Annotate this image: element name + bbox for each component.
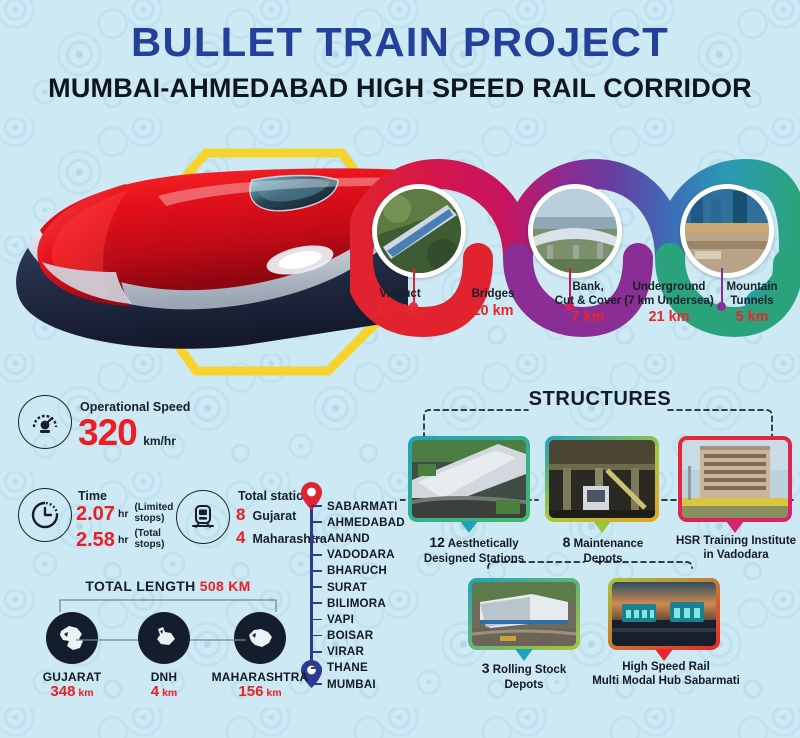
structure-card-maintenance-depots[interactable] [545,436,659,522]
station-name: SABARMATI [327,500,398,513]
structure-card-rolling-stock-depots[interactable] [468,578,580,650]
operational-speed-value: 320 [78,412,137,453]
dnh-km-unit: km [162,687,177,699]
state-row: GUJARAT 348km DNH 4km [18,612,318,699]
time-unit-limited: hr [118,508,129,520]
label-name: Underground [633,281,706,293]
station-list-item: BILIMORA [310,595,405,611]
page-header: BULLET TRAIN PROJECT MUMBAI-AHMEDABAD HI… [0,22,800,102]
station-list-item: SURAT [310,579,405,595]
structure-caption-maintenance-depots: 8 Maintenance Depots [532,534,674,566]
time-value-total: 2.58 [76,530,115,550]
station-tick [311,570,322,572]
station-list-item: MUMBAI [310,676,405,692]
card-pointer [460,521,478,533]
state-gujarat: GUJARAT 348km [26,612,118,699]
caption-line-2: Multi Modal Hub Sabarmati [592,675,740,687]
station-name: VIRAR [327,645,364,658]
total-length-section: TOTAL LENGTH 508 KM GUJARAT 348km [18,578,318,699]
maharashtra-km-value: 156 [238,683,263,700]
clock-icon [18,488,72,542]
total-length-value: 508 KM [200,578,251,594]
dnh-km-value: 4 [151,683,159,700]
station-list-item: SABARMATI [310,498,405,514]
structure-caption-designed-stations: 12 Aesthetically Designed Stations [394,534,554,566]
note-line-2: stops) [134,539,164,550]
caption-line-1: Maintenance [574,538,644,550]
note-line-1: (Limited [134,502,173,513]
rolling-stock-count: 3 [482,660,490,676]
stations-state-gujarat: Gujarat [252,509,296,523]
station-tick [311,521,322,523]
designed-stations-count: 12 [429,534,445,550]
caption-line-2: Depots [584,553,623,565]
station-name: MUMBAI [327,678,376,691]
note-line-2: stops) [134,513,164,524]
stations-count-maharashtra: 4 [236,528,245,548]
station-list-item: AHMEDABAD [310,514,405,530]
time-note-limited: (Limited stops) [134,503,173,524]
train-front-icon [176,490,230,544]
station-tick [311,554,322,556]
total-length-heading: TOTAL LENGTH 508 KM [18,578,318,594]
speedometer-icon [18,395,72,449]
station-list-item: ANAND [310,530,405,546]
caption-line-2: Designed Stations [424,553,524,565]
bullet-train-illustration [8,168,408,358]
station-list-item: BHARUCH [310,563,405,579]
label-name-2: Tunnels [730,295,773,307]
station-name: BILIMORA [327,597,386,610]
structure-caption-multi-modal-hub: High Speed Rail Multi Modal Hub Sabarmat… [586,660,746,689]
caption-line-2: Depots [505,679,544,691]
label-value: 10 km [448,303,538,320]
station-name: AHMEDABAD [327,516,405,529]
dnh-label: DNH [118,670,210,684]
state-dnh: DNH 4km [118,612,210,699]
alignment-label-mountain-tunnels: Mountain Tunnels 5 km [712,281,792,326]
station-name: SURAT [327,581,367,594]
card-pointer [726,521,744,533]
station-name: BHARUCH [327,564,387,577]
label-name: Viaduct [379,288,420,300]
caption-line-1: High Speed Rail [622,661,710,673]
gujarat-km-value: 348 [50,683,75,700]
operational-speed-unit: km/hr [143,434,176,448]
caption-line-2: in Vadodara [703,549,768,561]
station-tick [311,505,322,507]
maharashtra-km-unit: km [266,687,281,699]
station-name: VADODARA [327,548,395,561]
state-maharashtra: MAHARASHTRA 156km [210,612,310,699]
caption-line-1: Rolling Stock [493,664,566,676]
maharashtra-km: 156km [210,684,310,699]
caption-line-1: HSR Training Institute [676,535,796,547]
total-length-label: TOTAL LENGTH [85,578,195,594]
maintenance-depots-count: 8 [563,534,571,550]
dnh-km: 4km [118,684,210,699]
label-name-2: Cut & Cover [555,295,621,307]
alignment-label-bridges: Bridges 10 km [448,288,538,320]
station-list-item: THANE [310,660,405,676]
station-name: ANAND [327,532,370,545]
structure-photo-rolling-stock-depot [472,582,576,646]
station-name: THANE [327,661,368,674]
station-list: SABARMATIAHMEDABADANANDVADODARABHARUCHSU… [310,498,405,692]
structure-card-hsr-training-institute[interactable] [678,436,792,522]
card-pointer [593,521,611,533]
structure-photo-station [412,440,526,518]
time-unit-total: hr [118,534,129,546]
structure-caption-rolling-stock-depots: 3 Rolling Stock Depots [458,660,590,692]
gujarat-km-unit: km [78,687,93,699]
caption-line-1: Aesthetically [448,538,519,550]
gujarat-label: GUJARAT [26,670,118,684]
structure-photo-depot-interior [549,440,655,518]
label-value: 21 km [614,309,724,326]
alignment-photo-bridges [528,184,622,278]
structures-section: STRUCTURES 12 Aesthetically Designed [400,388,800,708]
label-name: Bridges [472,288,515,300]
time-row-limited: 2.07 hr (Limited stops) [76,503,173,524]
station-tick [311,538,322,540]
time-note-total: (Total stops) [134,529,164,550]
station-list-item: VAPI [310,611,405,627]
time-label: Time [78,489,107,503]
station-list-item: VIRAR [310,644,405,660]
station-list-item: BOISAR [310,628,405,644]
structure-photo-multi-modal-hub [612,582,716,646]
stations-count-gujarat: 8 [236,505,245,525]
alignment-photo-cut-and-cover [680,184,774,278]
operational-speed-value-row: 320 km/hr [78,414,176,451]
station-list-item: VADODARA [310,547,405,563]
page-title: BULLET TRAIN PROJECT [0,22,800,63]
alignment-photo-viaduct [372,184,466,278]
note-line-1: (Total [134,528,160,539]
alignment-label-underground: Underground (7 km Undersea) 21 km [614,281,724,326]
label-name-2: (7 km Undersea) [624,295,713,307]
structure-caption-hsr-training-institute: HSR Training Institute in Vadodara [668,534,800,563]
station-rows: SABARMATIAHMEDABADANANDVADODARABHARUCHSU… [310,498,405,692]
structure-photo-training-institute [682,440,788,518]
label-name: Mountain [726,281,777,293]
page-subtitle: MUMBAI-AHMEDABAD HIGH SPEED RAIL CORRIDO… [0,75,800,102]
structure-card-designed-stations[interactable] [408,436,530,522]
time-value-limited: 2.07 [76,504,115,524]
state-connector-line [18,638,318,642]
structure-card-multi-modal-hub[interactable] [608,578,720,650]
label-name: Bank, [572,281,603,293]
gujarat-km: 348km [26,684,118,699]
maharashtra-label: MAHARASHTRA [210,670,310,684]
station-name: BOISAR [327,629,373,642]
stations-row-gujarat: 8 Gujarat [236,505,296,525]
alignment-label-viaduct: Viaduct 465 km [355,288,445,320]
label-value: 465 km [355,303,445,320]
label-value: 5 km [712,309,792,326]
station-name: VAPI [327,613,354,626]
time-row-total: 2.58 hr (Total stops) [76,529,164,550]
